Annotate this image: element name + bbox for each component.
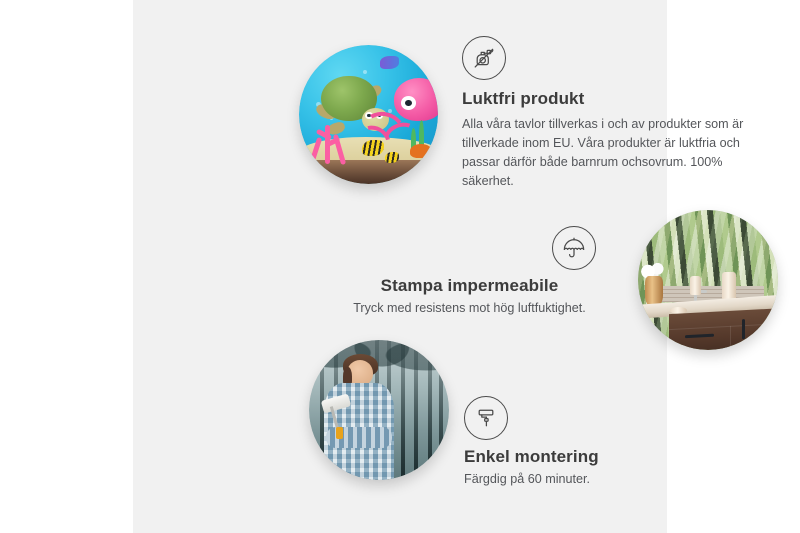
soap-dispenser [690,276,701,296]
feature-body: Färgdig på 60 minuter. [464,470,734,489]
feature-body: Tryck med resistens mot hög luftfuktighe… [343,299,596,318]
drawer-handle [685,333,713,337]
wood-vanity-cabinet [669,308,778,350]
pink-coral [307,120,349,167]
painter-forest-photo [309,340,449,480]
bathroom-wallpaper-photo [638,210,778,350]
tree-trunk [439,340,443,480]
feature-odourless: Luktfri produkt Alla våra tavlor tillver… [462,36,762,192]
octopus-eye [401,96,416,110]
feature-title: Luktfri produkt [462,89,762,109]
bubble [363,70,367,74]
product-feature-banner: Luktfri produkt Alla våra tavlor tillver… [0,0,800,533]
tree-trunk [414,340,418,480]
feature-title: Enkel montering [464,447,734,467]
umbrella-icon [552,226,596,270]
crab [410,144,432,158]
feature-waterproof: Stampa impermeabile Tryck med resistens … [343,226,596,318]
door-handle [742,318,745,338]
no-scent-icon [462,36,506,80]
tree-trunk [428,340,432,480]
cabinet-seam [669,323,778,330]
purple-fish [380,56,399,69]
paint-roller-icon [464,396,508,440]
cabinet-seam [730,326,731,350]
paint-roller-grip [336,427,343,440]
feature-title: Stampa impermeabile [343,276,596,296]
gold-vase [645,276,663,307]
feature-assembly: Enkel montering Färgdig på 60 minuter. [464,396,734,489]
feature-body: Alla våra tavlor tillverkas i och av pro… [462,115,762,192]
octopus-head [394,78,438,121]
no-scent-icon-wrapper [462,36,762,80]
content-panel: Luktfri produkt Alla våra tavlor tillver… [133,0,667,533]
underwater-kids-scene-photo [299,45,438,184]
tree-trunk [401,340,405,480]
soap-dispenser [722,272,736,300]
